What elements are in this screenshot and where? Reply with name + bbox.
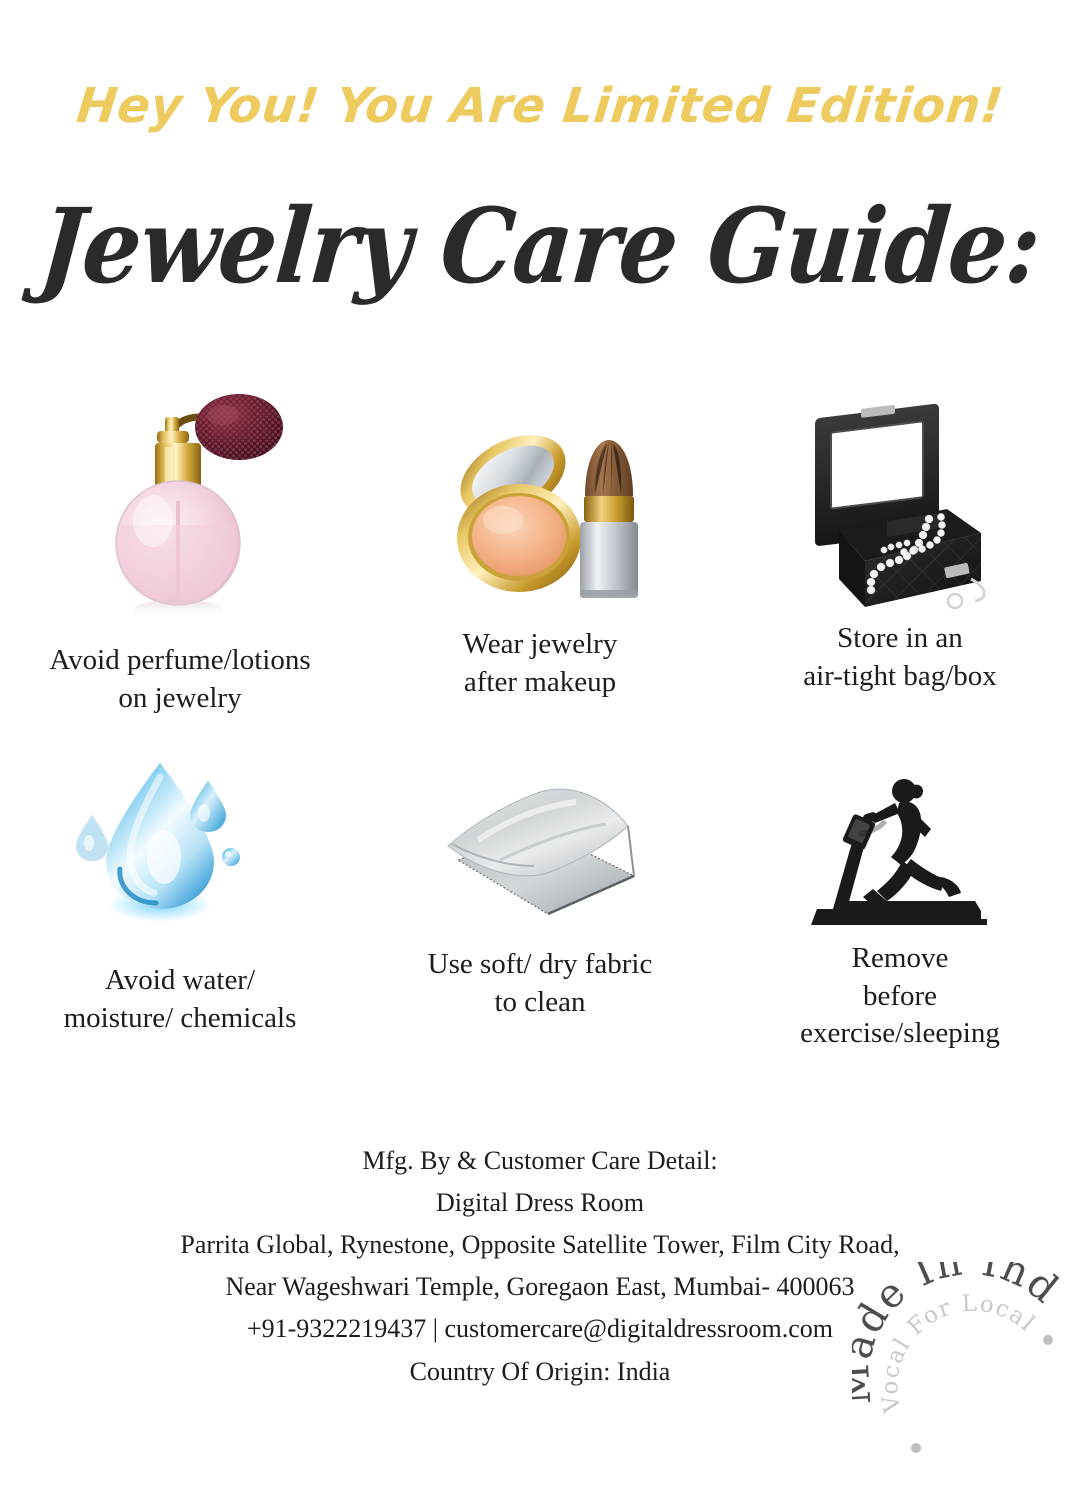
page-title: Jewelry Care Guide: xyxy=(0,186,1080,307)
made-in-india-badge: Made In India Vocal For Local xyxy=(852,1262,1080,1492)
treadmill-runner-icon xyxy=(803,748,998,938)
care-tip-caption: Avoid perfume/lotions on jewelry xyxy=(49,642,310,721)
care-tip-caption: Remove before exercise/sleeping xyxy=(800,940,1000,1057)
care-tip-remove-before-exercise: Remove before exercise/sleeping xyxy=(720,748,1080,1088)
perfume-bottle-icon xyxy=(73,368,288,618)
care-tips-row-2: Avoid water/ moisture/ chemicals xyxy=(0,748,1080,1088)
care-tip-wear-after-makeup: Wear jewelry after makeup xyxy=(360,368,720,748)
care-tip-avoid-water: Avoid water/ moisture/ chemicals xyxy=(0,748,360,1088)
care-tip-avoid-perfume: Avoid perfume/lotions on jewelry xyxy=(0,368,360,748)
footer-line-mfg: Mfg. By & Customer Care Detail: xyxy=(0,1140,1080,1182)
footer-line-company: Digital Dress Room xyxy=(0,1182,1080,1224)
care-tip-caption: Store in an air-tight bag/box xyxy=(803,620,997,699)
badge-dot-right xyxy=(1043,1335,1053,1345)
footer-line-address-1: Parrita Global, Rynestone, Opposite Sate… xyxy=(0,1224,1080,1266)
makeup-compact-brush-icon xyxy=(435,368,645,618)
water-droplet-icon xyxy=(68,748,293,938)
polishing-cloth-icon xyxy=(430,748,650,938)
care-tip-caption: Wear jewelry after makeup xyxy=(463,626,618,705)
jewelry-care-guide-page: Hey You! You Are Limited Edition! Jewelr… xyxy=(0,0,1080,1440)
care-tips-grid: Avoid perfume/lotions on jewelry xyxy=(0,368,1080,1088)
jewelry-box-icon xyxy=(795,368,1005,618)
tagline: Hey You! You Are Limited Edition! xyxy=(0,78,1080,134)
care-tips-row-1: Avoid perfume/lotions on jewelry xyxy=(0,368,1080,748)
care-tip-caption: Avoid water/ moisture/ chemicals xyxy=(64,962,297,1041)
care-tip-store-airtight: Store in an air-tight bag/box xyxy=(720,368,1080,748)
care-tip-soft-cloth: Use soft/ dry fabric to clean xyxy=(360,748,720,1088)
care-tip-caption: Use soft/ dry fabric to clean xyxy=(428,946,653,1025)
badge-dot-left xyxy=(911,1443,921,1453)
